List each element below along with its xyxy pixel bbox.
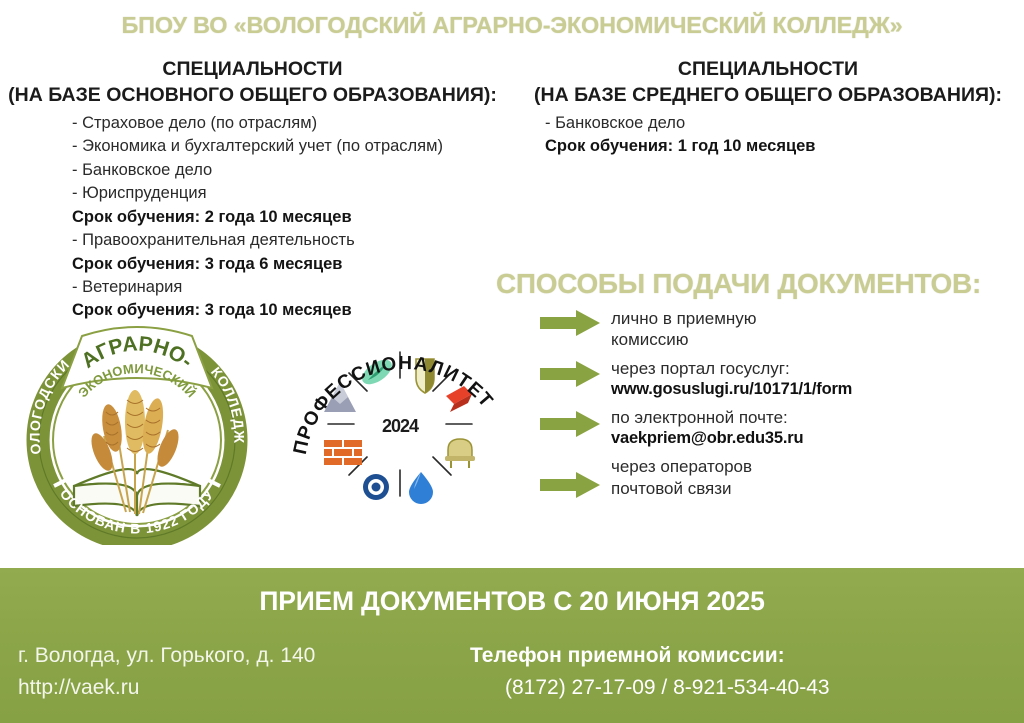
page-title: БПОУ ВО «ВОЛОГОДСКИЙ АГРАРНО-ЭКОНОМИЧЕСК… xyxy=(0,12,1024,39)
way-text: через портал госуслуг: www.gosuslugi.ru/… xyxy=(602,358,852,400)
way-text: по электронной почте: vaekpriem@obr.edu3… xyxy=(602,407,803,449)
target-icon xyxy=(363,474,389,500)
college-emblem-logo: АГРАРНО- ЭКОНОМИЧЕСКИЙ ВОЛОГОДСКИЙ КОЛЛЕ… xyxy=(22,300,252,545)
way-line: комиссию xyxy=(611,329,757,350)
duration-label: Срок обучения: 1 год 10 месяцев xyxy=(545,135,975,158)
footer-contact-left: г. Вологда, ул. Горького, д. 140 http://… xyxy=(18,640,315,704)
left-heading-line2: (НА БАЗЕ ОСНОВНОГО ОБЩЕГО ОБРАЗОВАНИЯ): xyxy=(0,83,505,109)
way-row: через портал госуслуг: www.gosuslugi.ru/… xyxy=(540,358,1010,400)
chair-icon xyxy=(445,439,475,468)
way-row: по электронной почте: vaekpriem@obr.edu3… xyxy=(540,407,1010,449)
arrow-right-icon xyxy=(540,472,602,498)
droplet-icon xyxy=(409,472,433,504)
arrow-right-icon xyxy=(540,411,602,437)
bricks-icon xyxy=(324,440,362,465)
right-specialty-list: - Банковское дело Срок обучения: 1 год 1… xyxy=(545,112,975,159)
poster-canvas: БПОУ ВО «ВОЛОГОДСКИЙ АГРАРНО-ЭКОНОМИЧЕСК… xyxy=(0,0,1024,723)
right-column-heading: СПЕЦИАЛЬНОСТИ (НА БАЗЕ СРЕДНЕГО ОБЩЕГО О… xyxy=(512,57,1024,109)
way-row: через операторов почтовой связи xyxy=(540,456,1010,499)
way-row: лично в приемную комиссию xyxy=(540,308,1010,351)
list-item: - Банковское дело xyxy=(72,159,492,182)
footer-band: ПРИЕМ ДОКУМЕНТОВ С 20 ИЮНЯ 2025 г. Волог… xyxy=(0,568,1024,723)
way-email[interactable]: vaekpriem@obr.edu35.ru xyxy=(611,428,803,449)
footer-contact-right: Телефон приемной комиссии: (8172) 27-17-… xyxy=(470,640,830,704)
duration-label: Срок обучения: 3 года 6 месяцев xyxy=(72,253,492,276)
college-emblem-svg: АГРАРНО- ЭКОНОМИЧЕСКИЙ ВОЛОГОДСКИЙ КОЛЛЕ… xyxy=(22,300,252,545)
way-line: лично в приемную xyxy=(611,308,757,329)
way-line: через портал госуслуг: xyxy=(611,358,852,379)
way-link[interactable]: www.gosuslugi.ru/10171/1/form xyxy=(611,379,852,400)
list-item: - Экономика и бухгалтерский учет (по отр… xyxy=(72,135,492,158)
list-item: - Правоохранительная деятельность xyxy=(72,229,492,252)
way-line: по электронной почте: xyxy=(611,407,803,428)
left-specialty-list: - Страховое дело (по отраслям) - Экономи… xyxy=(72,112,492,323)
way-line: почтовой связи xyxy=(611,478,752,499)
footer-address: г. Вологда, ул. Горького, д. 140 xyxy=(18,640,315,672)
duration-label: Срок обучения: 2 года 10 месяцев xyxy=(72,206,492,229)
left-column-heading: СПЕЦИАЛЬНОСТИ (НА БАЗЕ ОСНОВНОГО ОБЩЕГО … xyxy=(0,57,505,109)
professionalitet-svg: 2024 ПРОФЕССИОНАЛИТЕТ xyxy=(288,312,513,537)
way-line: через операторов xyxy=(611,456,752,477)
right-heading-line1: СПЕЦИАЛЬНОСТИ xyxy=(512,57,1024,83)
footer-website[interactable]: http://vaek.ru xyxy=(18,672,315,704)
way-text: лично в приемную комиссию xyxy=(602,308,757,351)
ways-section-title: СПОСОБЫ ПОДАЧИ ДОКУМЕНТОВ: xyxy=(496,268,981,300)
left-heading-line1: СПЕЦИАЛЬНОСТИ xyxy=(0,57,505,83)
arrow-right-icon xyxy=(540,361,602,387)
arrow-right-icon xyxy=(540,310,602,336)
way-text: через операторов почтовой связи xyxy=(602,456,752,499)
right-heading-line2: (НА БАЗЕ СРЕДНЕГО ОБЩЕГО ОБРАЗОВАНИЯ): xyxy=(512,83,1024,109)
list-item: - Страховое дело (по отраслям) xyxy=(72,112,492,135)
list-item: - Ветеринария xyxy=(72,276,492,299)
list-item: - Банковское дело xyxy=(545,112,975,135)
list-item: - Юриспруденция xyxy=(72,182,492,205)
ways-list: лично в приемную комиссию через портал г… xyxy=(540,308,1010,506)
footer-headline: ПРИЕМ ДОКУМЕНТОВ С 20 ИЮНЯ 2025 xyxy=(0,586,1024,617)
footer-phone-numbers[interactable]: (8172) 27-17-09 / 8-921-534-40-43 xyxy=(470,672,830,704)
footer-phone-label: Телефон приемной комиссии: xyxy=(470,640,830,672)
professionalitet-logo: 2024 ПРОФЕССИОНАЛИТЕТ xyxy=(288,312,513,537)
prof-year-label: 2024 xyxy=(382,416,419,436)
